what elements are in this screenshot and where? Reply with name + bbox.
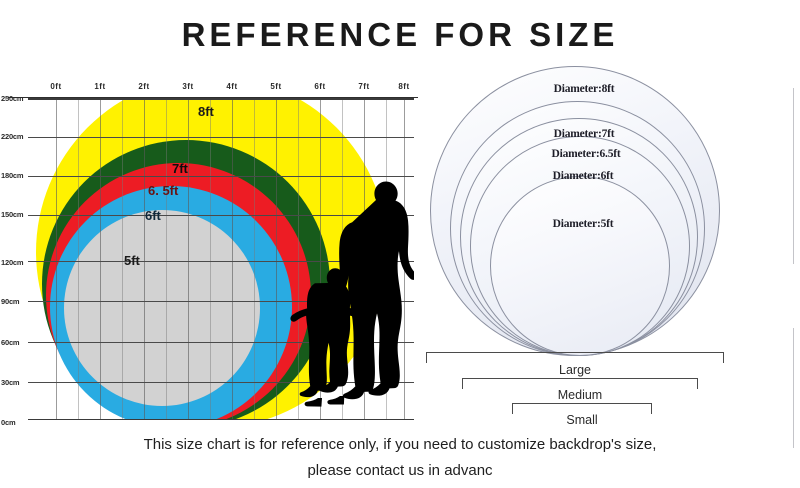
height-comparison-chart: 0ft 1ft 2ft 3ft 4ft 5ft 6ft 7ft 8ft 250c… [0, 70, 420, 430]
x-tick-0ft: 0ft [50, 82, 61, 91]
disc-label-8ft: Diameter:8ft [554, 83, 615, 95]
y-tick-120cm: 120cm [1, 258, 23, 267]
bracket-label-small: Small [566, 413, 597, 427]
x-tick-6ft: 6ft [314, 82, 325, 91]
arc-label-7ft: 7ft [172, 161, 188, 176]
disc-label-5ft: Diameter:5ft [553, 218, 614, 230]
bracket-label-large: Large [559, 363, 591, 377]
y-tick-220cm: 220cm [1, 132, 23, 141]
footer-note: This size chart is for reference only, i… [0, 432, 800, 484]
plot-area: 8ft 7ft 6. 5ft 6ft 5ft [28, 98, 414, 420]
y-tick-90cm: 90cm [1, 297, 19, 306]
y-tick-0cm: 0cm [1, 418, 15, 427]
disc-5ft[interactable] [490, 176, 670, 356]
disc-label-7ft: Diameter:7ft [554, 128, 615, 140]
x-tick-8ft: 8ft [398, 82, 409, 91]
arc-label-8ft: 8ft [198, 104, 214, 119]
footer-line-2: please contact us in advanc [0, 458, 800, 484]
size-reference-chart: REFERENCE FOR SIZE 0ft 1ft 2ft 3ft 4ft 5… [0, 0, 800, 488]
arc-5ft [64, 210, 260, 406]
size-bracket-group: Large Medium Small [420, 348, 800, 430]
disc-label-6_5ft: Diameter:6.5ft [551, 148, 620, 160]
right-edge-line-bottom [793, 328, 794, 448]
arc-label-6_5ft: 6. 5ft [148, 183, 178, 198]
y-tick-180cm: 180cm [1, 171, 23, 180]
x-tick-3ft: 3ft [182, 82, 193, 91]
y-tick-250cm: 250cm [1, 94, 23, 103]
right-edge-line-top [793, 88, 794, 264]
arc-label-5ft: 5ft [124, 253, 140, 268]
footer-line-1: This size chart is for reference only, i… [0, 432, 800, 458]
page-title: REFERENCE FOR SIZE [0, 16, 800, 54]
arc-label-6ft: 6ft [145, 208, 161, 223]
disc-label-6ft: Diameter:6ft [553, 170, 614, 182]
bracket-large [426, 352, 724, 363]
x-tick-4ft: 4ft [226, 82, 237, 91]
y-tick-30cm: 30cm [1, 378, 19, 387]
y-tick-150cm: 150cm [1, 210, 23, 219]
disc-size-diagram: Diameter:8ft Diameter:7ft Diameter:6.5ft… [420, 58, 800, 378]
y-tick-60cm: 60cm [1, 338, 19, 347]
x-tick-1ft: 1ft [94, 82, 105, 91]
x-tick-5ft: 5ft [270, 82, 281, 91]
x-tick-2ft: 2ft [138, 82, 149, 91]
x-tick-7ft: 7ft [358, 82, 369, 91]
bracket-label-medium: Medium [558, 388, 602, 402]
